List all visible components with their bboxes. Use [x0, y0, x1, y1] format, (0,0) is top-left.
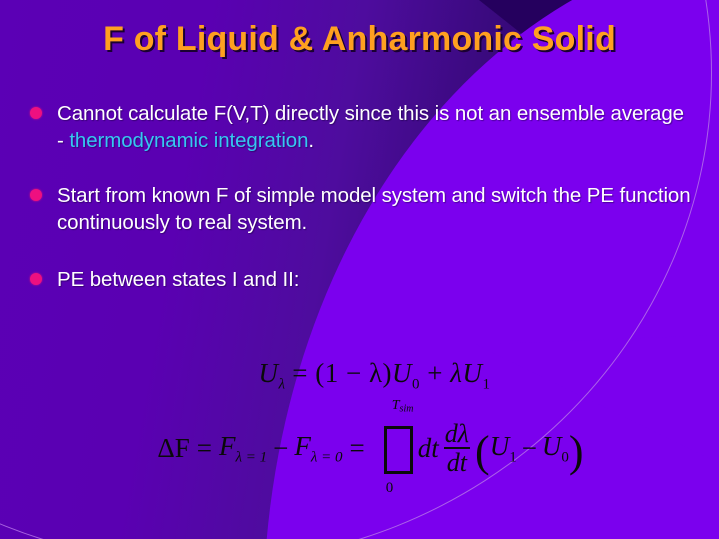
eq2-dt: dt — [418, 433, 439, 464]
eq1-term1-symbol: U — [392, 358, 412, 388]
fraction-numerator: dλ — [442, 420, 472, 447]
eq2-inner-minus: − — [522, 433, 537, 464]
eq2-u1: U1 — [490, 431, 517, 466]
bullet-text-tail: . — [308, 129, 314, 152]
eq2-u1-symbol: U — [490, 431, 510, 461]
eq1-lhs-subscript: λ — [279, 376, 286, 392]
integral-glyph-box — [384, 426, 413, 474]
derivative-fraction: dλ dt — [442, 420, 472, 477]
bullet-dot-icon — [30, 189, 42, 201]
equation-block: Uλ = (1 − λ)U0 + λU1 ΔF = Fλ = 1 − Fλ = … — [0, 358, 719, 481]
presentation-slide: F of Liquid & Anharmonic Solid Cannot ca… — [0, 0, 719, 539]
list-item: Cannot calculate F(V,T) directly since t… — [30, 100, 695, 154]
eq1-lhs-symbol: U — [259, 358, 279, 388]
eq2-f1-subscript: λ = 1 — [236, 449, 268, 465]
eq2-f1-symbol: F — [219, 431, 236, 461]
list-item: PE between states I and II: — [30, 266, 695, 293]
eq1-term1-subscript: 0 — [412, 376, 420, 392]
eq2-u0: U0 — [542, 431, 569, 466]
eq2-equals-second: = — [350, 433, 365, 464]
eq2-equals-first: = — [197, 433, 212, 464]
bullet-item-text: Cannot calculate F(V,T) directly since t… — [57, 100, 695, 154]
eq2-delta-f-symbol: ΔF — [157, 433, 189, 463]
integral-lower-limit: 0 — [386, 480, 394, 497]
integral-sign-missing-glyph: Tsim 0 — [380, 415, 414, 481]
bullet-dot-icon — [30, 107, 42, 119]
bullet-dot-icon — [30, 273, 42, 285]
eq1-plus: + — [427, 358, 443, 388]
eq1-equals: = — [292, 358, 308, 388]
eq2-u1-subscript: 1 — [509, 449, 517, 465]
equation-free-energy-difference: ΔF = Fλ = 1 − Fλ = 0 = Tsim 0 dt dλ dt (… — [0, 415, 719, 481]
eq1-term2-lambda: λ — [450, 358, 462, 388]
integral-upper-limit: Tsim — [392, 398, 414, 415]
fraction-denominator: dt — [444, 447, 470, 476]
bullet-text-lead: PE between states I and II: — [57, 268, 299, 291]
eq2-f-lambda-zero: Fλ = 0 — [294, 431, 342, 466]
eq2-f0-subscript: λ = 0 — [311, 449, 343, 465]
eq1-rhs-factor: (1 − λ) — [315, 358, 392, 388]
equation-potential-mixing: Uλ = (1 − λ)U0 + λU1 — [0, 358, 719, 393]
eq1-term2-subscript: 1 — [482, 376, 490, 392]
eq1-lhs: Uλ — [259, 358, 286, 388]
list-item: Start from known F of simple model syste… — [30, 182, 695, 236]
bullet-list: Cannot calculate F(V,T) directly since t… — [30, 100, 695, 315]
eq2-u0-symbol: U — [542, 431, 562, 461]
eq2-minus: − — [273, 433, 288, 464]
eq2-delta-f: ΔF — [157, 433, 189, 464]
eq2-u0-subscript: 0 — [561, 449, 569, 465]
bullet-text-highlight: thermodynamic integration — [69, 129, 308, 152]
eq1-term2-symbol: U — [462, 358, 482, 388]
eq2-f-lambda-one: Fλ = 1 — [219, 431, 267, 466]
bullet-text-lead: Start from known F of simple model syste… — [57, 184, 691, 234]
slide-title: F of Liquid & Anharmonic Solid — [0, 20, 719, 59]
integral-upper-main: T — [392, 398, 400, 413]
bullet-item-text: Start from known F of simple model syste… — [57, 182, 695, 236]
integral-upper-subscript: sim — [400, 404, 414, 415]
bullet-item-text: PE between states I and II: — [57, 266, 299, 293]
eq2-f0-symbol: F — [294, 431, 311, 461]
